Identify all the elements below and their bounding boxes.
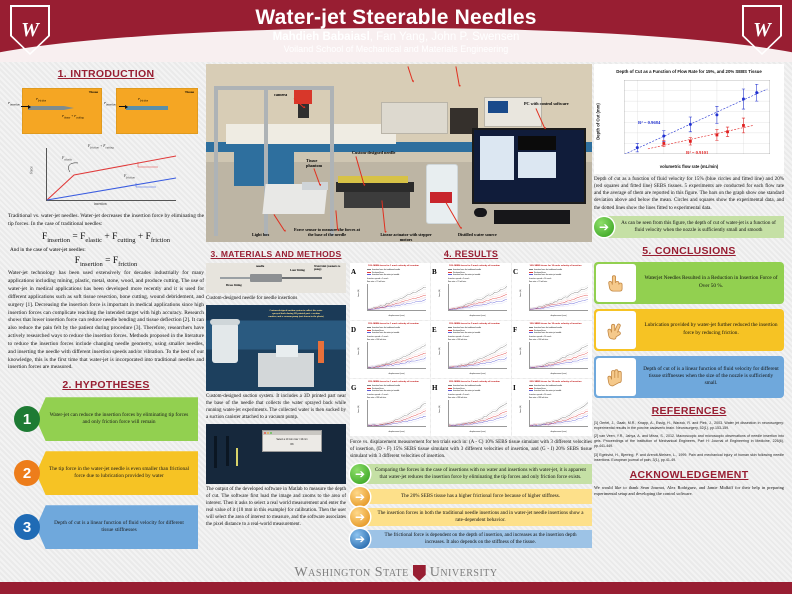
photo-label-water: Distilled water source [458,232,497,237]
photo-label-force-sensor: Force sensor to measure the forces at th… [292,227,362,237]
r2-label-15pct: R² = 0.9684 [638,120,660,125]
needle-in-image-1 [214,436,217,468]
panel-plot-area [367,342,426,369]
results-callout-4: ➔ The frictional force is dependent on t… [350,529,592,548]
data-point [689,140,692,143]
results-panel-d: D15% SEBS tissue for 1 mm/s velocity of … [350,321,430,378]
photo-label-phantom: Tissuephantom [306,158,322,168]
curve-mean [530,287,588,309]
legend-label: Insertion force for traditional needle [372,269,400,271]
hypothesis-flag: The tip force in the water-jet needle is… [36,451,198,495]
curve-envelope [449,409,507,424]
curve-envelope [368,401,426,425]
hypothesis-number: 2 [14,460,40,486]
legend-label: Insertion force for water-jet needle [453,390,480,392]
three-finger-hand-icon [596,358,636,396]
panel-title: 15% SEBS tissue for 1 mm/s velocity of i… [359,323,428,326]
legend-label: Insertion force for water-jet needle [372,390,399,392]
needle-body [250,274,282,282]
poster-root: W W Water-jet Steerable Needles Mahdieh … [0,0,792,594]
f-insertion-arrow-left [21,106,29,107]
suction-figure-caption: Custom-designed suction system. It inclu… [206,393,346,421]
callout-text: Comparing the forces in the case of inse… [361,467,592,480]
measure-marker [236,448,238,466]
curve-envelope [368,293,426,309]
panel-letter: E [432,326,437,334]
section-title-conclusions: 5. CONCLUSIONS [594,245,784,257]
tissue-panel-traditional: Tissue [22,88,102,134]
jug-label [430,192,452,203]
panel-letter: I [513,384,516,392]
panel-letter: C [513,268,518,276]
depth-chart-callout: ➔ As can be seen from this figure, the d… [594,215,784,239]
hypothesis-number: 1 [14,406,40,432]
panel-title: 15% SEBS tissue for 10 mm/s velocity of … [521,323,590,326]
reference-item: [2] van Veen, Y.R., Jahya, A. and Misra,… [594,434,784,450]
conclusion-text: Depth of cut of is a linear function of … [638,366,784,387]
panel-chart: 15% SEBS tissue for 10 mm/s velocity of … [521,323,590,376]
section-title-results: 4. RESULTS [350,249,592,259]
panel-title: 15% SEBS tissue for 5 mm/s velocity of i… [440,323,509,326]
matlab-dialog[interactable]: Select a 10 mm ruler / 10 mm OK [262,430,322,452]
poster-title: Water-jet Steerable Needles [0,0,792,30]
curve-mean [449,403,507,426]
matlab-software-photo: Select a 10 mm ruler / 10 mm OK [206,424,346,484]
data-point [662,135,665,138]
panel-ylabel: force (N) [520,347,522,354]
panel-curves [530,400,588,426]
panel-curves [449,400,507,426]
legend-label: Insertion force for traditional needle [453,385,481,387]
results-panel-c: C10% SEBS tissue for 10 mm/s velocity of… [512,263,592,320]
equation-intro-note: And in the case of water-jet needles: [10,247,204,253]
callout-bar: The frictional force is dependent on the… [361,530,592,548]
power-supply-display [488,101,508,113]
panel-xlabel: displacement (mm) [367,373,426,375]
reference-item: [3] Egekvist, H., Bjerring, P. and Arend… [594,453,784,463]
section-title-references: REFERENCES [594,405,784,417]
legend-entry: Insertion force for water-jet needle [529,390,562,393]
frame-rail-left [214,86,218,236]
luer-fitting-label: Luer fitting [290,268,305,272]
poster-header: W W Water-jet Steerable Needles Mahdieh … [0,0,792,62]
methods-column: 3. MATERIALS AND METHODS needle Luer fit… [206,245,346,548]
results-panel-g: G20% SEBS tissue for 1 mm/s velocity of … [350,379,430,436]
data-point [755,91,758,94]
hand-three-svg [603,364,629,390]
legend-label: Insertion force for water-jet needle [453,332,480,334]
curve-envelope [530,409,588,425]
panel-ylabel: force (N) [520,289,522,296]
callout-bar: As can be seen from this figure, the dep… [605,216,784,238]
callout-text: As can be seen from this figure, the dep… [605,220,784,233]
f-friction-label-right: Ffriction [138,97,148,103]
conclusion-item-2: Lubrication provided by water-jet furthe… [594,309,784,351]
results-panel-h: H20% SEBS tissue for 5 mm/s velocity of … [431,379,511,436]
panel-title: 10% SEBS tissue for 5 mm/s velocity of i… [440,265,509,268]
panel-xlabel: displacement (mm) [367,315,426,317]
panel-letter: B [432,268,437,276]
section-title-hypotheses: 2. HYPOTHESES [8,379,204,391]
legend-entry: Insertion force for water-jet needle [529,274,562,277]
results-chart-grid: A10% SEBS tissue for 1 mm/s velocity of … [350,263,592,436]
panel-plot-area [448,342,507,369]
photo-label-camera: camera [274,92,287,97]
leader-electronics [456,66,460,86]
monitor-window-terminal [518,136,556,150]
legend-entry: Insertion force for water-jet needle [448,390,481,393]
tissue-label: Tissue [185,90,194,94]
results-column: 4. RESULTS A10% SEBS tissue for 1 mm/s v… [350,245,592,548]
legend-entry: Insertion force for water-jet needle [367,274,400,277]
tissue-label: Tissue [89,90,98,94]
panel-annotation: Insertion speed = 5 mm/sflow rate = 300 … [448,336,469,342]
leader-pump [408,66,414,81]
panel-ylabel: force (N) [358,289,360,296]
hypothesis-text: Depth of cut is a linear function of flu… [36,520,198,534]
curve-mean [368,404,426,426]
acknowledgement-text: We would like to thank Sean Journot, Ale… [594,485,784,498]
f-insertion-arrow-right [119,106,126,107]
legend-label: Insertion force for water-jet needle [372,332,399,334]
callout-bar: The 20% SEBS tissue has a higher frictio… [361,489,592,504]
panel-annotation: Insertion speed = 1 mm/sflow rate = 380 … [367,394,388,400]
actuator-base [344,192,410,208]
panel-ylabel: force (N) [358,405,360,412]
canister-lid [210,319,240,325]
legend-entry: Insertion force for water-jet needle [448,332,481,335]
panel-annotation: Insertion speed = 1 mm/sflow rate = 70 m… [367,278,388,284]
arrow-right-icon: ➔ [350,487,370,507]
curve-mean [530,358,588,368]
panel-plot-area [529,284,588,311]
panel-curves [449,284,507,310]
panel-letter: F [513,326,517,334]
hypothesis-flag: Water-jet can reduce the insertion force… [36,397,198,441]
results-callout-3: ➔ The insertion forces in both the tradi… [350,507,592,526]
leader-lightbox [274,214,286,231]
footer-crest-icon [413,565,426,581]
panel-plot-area [448,284,507,311]
legend-label: Insertion force for traditional needle [534,269,562,271]
force-insertion-plot: force insertion Felastic Ffriction + Fcu… [26,142,186,210]
middle-column: High-pressure pump electronics PC with c… [206,64,592,548]
scatter-svg [624,80,770,154]
photo-label-lightbox: Light box [252,232,269,237]
legend-label: Insertion force for water-jet needle [372,274,399,276]
results-panel-b: B10% SEBS tissue for 5 mm/s velocity of … [431,263,511,320]
dialog-ok-button[interactable]: OK [263,443,321,446]
panel-plot-area [529,400,588,427]
panel-ylabel: force (N) [439,289,441,296]
f-insertion-label-right: Finsertion [104,101,116,107]
legend-label: Insertion force for water-jet needle [534,274,561,276]
mouse [474,208,487,217]
panel-ylabel: force (N) [439,405,441,412]
scatter-title: Depth of Cut as a Function of Flow Rate … [594,64,784,74]
photo-label-pc: PC with control software [524,101,569,106]
panel-legend: Insertion force for traditional needleFr… [448,385,481,393]
panel-curves [368,342,426,368]
hypothesis-number: 3 [14,514,40,540]
panel-chart: 20% SEBS tissue for 5 mm/s velocity of i… [440,381,509,434]
f-friction-label-left: Ffriction [36,97,46,103]
frame-rail-3 [330,86,334,236]
tissue-phantom [302,182,328,190]
data-point [726,130,729,133]
matlab-figure-caption: The output of the developed software in … [206,486,346,528]
hypothesis-text: Water-jet can reduce the insertion force… [36,412,198,426]
f-insertion-label-left: Finsertion [8,101,20,107]
crest-letter: W [753,19,771,42]
hypothesis-item-1: Water-jet can reduce the insertion force… [14,397,204,441]
legend-entry: Insertion force for water-jet needle [529,332,562,335]
section-title-introduction: 1. INTRODUCTION [8,68,204,80]
panel-curves [449,342,507,368]
data-point [742,124,745,127]
curve-mean [449,344,507,367]
panel-chart: 10% SEBS tissue for 1 mm/s velocity of i… [359,265,428,318]
f-friction-line-label: Ffriction [124,174,135,180]
panel-legend: Insertion force for traditional needleFr… [448,327,481,335]
right-column: Depth of Cut as a Function of Flow Rate … [594,64,784,498]
legend-entry: Insertion force for water-jet needle [367,390,400,393]
hand-two-svg [603,317,629,343]
printed-collector [276,345,298,357]
one-finger-hand-icon [596,264,636,302]
panel-annotation: Insertion speed = 1 mm/sflow rate = 300 … [367,336,388,342]
panel-title: 10% SEBS tissue for 1 mm/s velocity of i… [359,265,428,268]
results-callout-2: ➔ The 20% SEBS tissue has a higher frict… [350,488,592,504]
arrow-right-icon: ➔ [350,464,370,484]
legend-label: Insertion force for traditional needle [534,327,562,329]
monitor-window-right [518,152,556,178]
curve-envelope [368,355,426,367]
legend-entry: Insertion force for water-jet needle [448,274,481,277]
panel-xlabel: displacement (mm) [448,315,507,317]
panel-annotation: Insertion speed = 10 mm/sflow rate = 380… [529,394,551,400]
curve-envelope [449,292,507,309]
panel-ylabel: force (N) [520,405,522,412]
results-callout-1: ➔ Comparing the forces in the case of in… [350,463,592,485]
wordmark-state: STATE [375,565,409,581]
wordmark-washington: WASHINGTON [294,565,370,581]
callout-text: The 20% SEBS tissue has a higher frictio… [387,493,566,500]
panel-xlabel: displacement (mm) [448,431,507,433]
plot-curves [26,142,186,210]
depth-of-cut-chart: Depth of Cut as a Function of Flow Rate … [594,64,784,174]
panel-chart: 15% SEBS tissue for 5 mm/s velocity of i… [440,323,509,376]
curve-mean [368,295,426,310]
conclusion-text: Waterjet Needles Resulted in a Reduction… [638,275,784,289]
needle-shaft [282,277,322,279]
panel-letter: D [351,326,356,334]
data-point [742,98,745,101]
needle-photo: needle Luer fitting Water inlet (connect… [206,263,346,293]
panel-xlabel: displacement (mm) [529,373,588,375]
crest-letter: W [21,19,39,42]
results-panel-e: E15% SEBS tissue for 5 mm/s velocity of … [431,321,511,378]
keyboard [494,210,570,224]
panel-title: 20% SEBS tissue for 10 mm/s velocity of … [521,381,590,384]
introduction-paragraph: Water-jet technology has been used exten… [8,270,204,372]
hypothesis-text: The tip force in the water-jet needle is… [36,466,198,480]
legend-label: Insertion force for water-jet needle [534,332,561,334]
f-elastic-label: Felastic [62,156,72,162]
hand-one-svg [603,270,629,296]
panel-letter: G [351,384,356,392]
f-tissue-cutting-label: Ftissue + Fcutting [62,114,84,120]
results-panel-i: I20% SEBS tissue for 10 mm/s velocity of… [512,379,592,436]
panel-annotation: Insertion speed = 10 mm/sflow rate = 300… [529,336,551,342]
hypothesis-item-3: Depth of cut is a linear function of flu… [14,505,204,549]
footer-band [0,582,792,594]
depth-chart-caption: Depth of cut as a function of fluid velo… [594,176,784,212]
panel-xlabel: displacement (mm) [448,373,507,375]
dialog-minimize-icon [267,432,269,434]
bench-top [226,124,396,144]
references-list: [1] Oertel, J., Gaab, M.R., Knapp, A., E… [594,421,784,463]
tissue-container [258,353,314,387]
panel-plot-area [529,342,588,369]
linear-actuator [336,182,414,192]
dialog-maximize-icon [270,432,272,434]
curve-envelope [530,343,588,366]
panel-ylabel: force (N) [439,347,441,354]
brass-fitting-label: Brass fitting [226,283,242,287]
panel-title: 10% SEBS tissue for 10 mm/s velocity of … [521,265,590,268]
needle-inlet-tube [220,277,250,279]
conclusion-item-1: Waterjet Needles Resulted in a Reduction… [594,262,784,304]
legend-label: Insertion force for water-jet needle [453,274,480,276]
callout-text: The insertion forces in both the traditi… [361,510,592,523]
tissue-panel-waterjet: Tissue [116,88,198,134]
panel-annotation: Insertion speed = 10 mm/sflow rate = 70 … [529,278,551,284]
curve-envelope [530,302,588,310]
panel-ylabel: force (N) [358,347,360,354]
section-title-acknowledgement: ACKNOWLEDGEMENT [594,469,784,481]
monitor-window-left [480,136,514,180]
panel-letter: H [432,384,437,392]
panel-annotation: Insertion speed = 5 mm/sflow rate = 70 m… [448,278,469,284]
curve-envelope [368,343,426,367]
curve-envelope [530,413,588,425]
hypothesis-item-2: The tip force in the water-jet needle is… [14,451,204,495]
curve-envelope [530,355,588,368]
introduction-figure: Tissue Finsertion Ffriction Ftissue + Fc… [8,84,204,140]
scatter-ylabel: Depth of Cut (mm) [596,103,601,140]
arrow-right-icon: ➔ [350,507,370,527]
frame-crossbar [214,86,334,90]
high-pressure-pump [381,102,448,134]
results-caption: Force vs. displacement measurement for t… [350,439,592,460]
panel-plot-area [448,400,507,427]
results-panel-a: A10% SEBS tissue for 1 mm/s velocity of … [350,263,430,320]
panel-annotation: Insertion speed = 5 mm/sflow rate = 380 … [448,394,469,400]
callout-bar: Comparing the forces in the case of inse… [361,464,592,484]
curve-envelope [449,284,507,309]
legend-label: Insertion force for water-jet needle [534,390,561,392]
panel-plot-area [367,400,426,427]
scatter-plot-area [624,80,770,154]
curve-envelope [530,285,588,308]
panel-curves [530,284,588,310]
r2-label-20pct: R² = 0.9101 [686,150,708,155]
orange-clamp [318,341,324,363]
needle-label: needle [256,264,264,268]
data-point [689,123,692,126]
poster-footer: WASHINGTON STATE UNIVERSITY [0,564,792,594]
experimental-setup-photo: High-pressure pump electronics PC with c… [206,64,592,242]
scatter-xlabel: volumetric flow rate (mL/min) [594,164,784,169]
panel-legend: Insertion force for traditional needleFr… [448,269,481,277]
left-column: 1. INTRODUCTION Tissue Finsertion Ffrict… [8,64,204,549]
data-point [716,134,719,137]
legend-label: Insertion force for traditional needle [372,327,400,329]
curve-mean [368,411,426,426]
panel-chart: 20% SEBS tissue for 1 mm/s velocity of i… [359,381,428,434]
legend-label: Insertion force for traditional needle [453,269,481,271]
introduction-caption: Traditional vs. water-jet needles. Water… [8,213,204,229]
plot-xlabel: insertion [94,202,107,206]
panel-curves [368,284,426,310]
conclusion-item-3: Depth of cut of is a linear function of … [594,356,784,398]
wordmark-university: UNIVERSITY [430,565,498,581]
hypothesis-flag: Depth of cut is a linear function of flu… [36,505,198,549]
panel-legend: Insertion force for traditional needleFr… [529,269,562,277]
callout-text: The frictional force is dependent on the… [361,532,592,545]
curve-envelope [368,406,426,426]
dialog-message: Select a 10 mm ruler / 10 mm [263,435,321,441]
water-inlet-label: Water inlet (connects to pump) [314,265,344,271]
panel-chart: 10% SEBS tissue for 10 mm/s velocity of … [521,265,590,318]
waterjet-needle-shape [126,106,168,110]
panel-xlabel: displacement (mm) [367,431,426,433]
conclusion-text: Lubrication provided by water-jet furthe… [638,322,784,336]
panel-xlabel: displacement (mm) [529,315,588,317]
legend-label: Insertion force for traditional needle [534,385,562,387]
suction-canister [212,323,238,363]
panel-plot-area [367,284,426,311]
wsu-wordmark: WASHINGTON STATE UNIVERSITY [0,565,792,581]
two-finger-hand-icon [596,311,636,349]
panel-title: 20% SEBS tissue for 1 mm/s velocity of i… [359,381,428,384]
curve-mean [368,287,426,309]
dialog-close-icon [264,432,266,434]
panel-legend: Insertion force for traditional needleFr… [367,327,400,335]
panel-legend: Insertion force for traditional needleFr… [367,385,400,393]
legend-label: Insertion force for traditional needle [453,327,481,329]
callout-bar: The insertion forces in both the traditi… [361,508,592,526]
panel-legend: Insertion force for traditional needleFr… [529,327,562,335]
panel-xlabel: displacement (mm) [529,431,588,433]
plot-ylabel: force [30,166,34,173]
panel-title: 20% SEBS tissue for 5 mm/s velocity of i… [440,381,509,384]
section-title-methods: 3. MATERIALS AND METHODS [206,249,346,259]
equation-waterjet: Finsertion = Ffriction [8,256,204,268]
data-point [662,142,665,145]
panel-curves [530,342,588,368]
suction-system-photo: Custom-designed suction system to collec… [206,305,346,391]
f-friction-cutting-label: Ffriction + Fcutting [88,144,114,150]
curve-mean [530,403,588,426]
arrow-right-icon: ➔ [594,217,614,237]
panel-letter: A [351,268,356,276]
legend-entry: Insertion force for water-jet needle [367,332,400,335]
panel-legend: Insertion force for traditional needleFr… [367,269,400,277]
data-point [715,113,718,116]
panel-chart: 20% SEBS tissue for 10 mm/s velocity of … [521,381,590,434]
